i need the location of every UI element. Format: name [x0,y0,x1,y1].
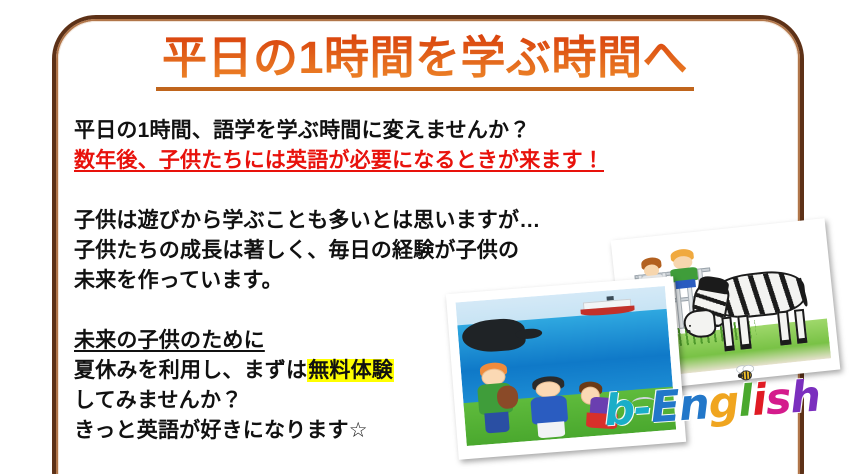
logo-letter: g [707,381,740,426]
logo-letter: n [678,383,711,428]
cta-line-1: 未来の子供のために [74,329,265,352]
child-shorts [537,421,565,438]
cta-line-2-text: 夏休みを利用し、まずは [74,359,307,382]
b-english-logo[interactable]: b-English [603,376,822,434]
zebra-leg [777,311,791,346]
intro-block: 平日の1時間、語学を学ぶ時間に変えませんか？ 数年後、子供たちには英語が必要にな… [74,116,714,176]
headline-container: 平日の1時間を学ぶ時間へ [0,34,850,91]
page-title: 平日の1時間を学ぶ時間へ [156,34,694,91]
beach-child-left [473,361,525,442]
zebra-leg [721,317,735,352]
intro-line-2: 数年後、子供たちには英語が必要になるときが来ます！ [74,146,714,176]
zebra-leg [737,315,751,350]
bee-icon [734,364,757,383]
zebra-illustration [678,262,821,358]
free-trial-highlight: 無料体験 [307,359,394,382]
logo-letter: h [789,376,822,421]
zebra-leg [794,309,808,344]
zebra-head [682,308,717,339]
logo-letter: E [649,385,680,430]
intro-line-1: 平日の1時間、語学を学ぶ時間に変えませんか？ [74,116,714,146]
logo-letter: b [603,389,636,434]
poster-canvas: 平日の1時間を学ぶ時間へ 平日の1時間、語学を学ぶ時間に変えませんか？ 数年後、… [0,0,850,474]
beach-child-center [527,374,580,441]
child-shorts [484,412,510,434]
spacer-1 [74,176,714,206]
zebra-muzzle [686,329,690,333]
logo-letter: s [764,378,792,423]
child-shirt [530,395,568,424]
zebra-eye [689,325,691,327]
paragraph-line-1: 子供は遊びから学ぶことも多いとは思いますが… [74,206,714,236]
teddy-bear-icon [496,385,519,410]
